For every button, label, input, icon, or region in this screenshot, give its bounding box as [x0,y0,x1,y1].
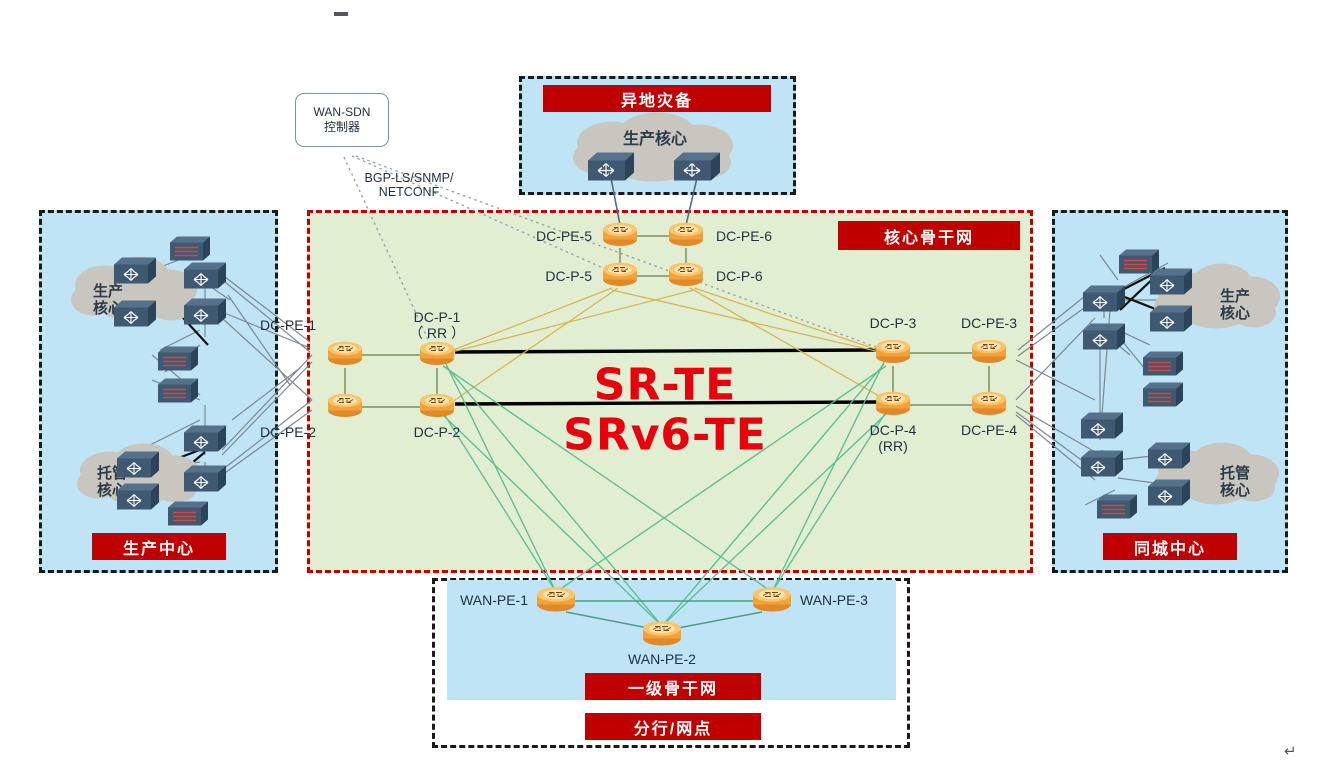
cloud-label-prod-core-top: 生产核心 [623,131,687,149]
banner-branch-outlets: 分行/网点 [585,713,761,740]
router-dc-p-6[interactable] [667,260,705,293]
firewall-icon [166,499,210,532]
srv6-te-label: SRv6-TE [563,410,767,461]
banner-production-center: 生产中心 [92,533,226,560]
label-dc-pe-5: DC-PE-5 [536,229,592,245]
switch-icon [182,463,228,498]
diagram-canvas: 生产 核心 托管 核心 生产核心 生产 核心 托管 核心 [0,0,1338,783]
switch-icon [182,296,228,331]
label-dc-pe-2: DC-PE-2 [260,425,316,441]
label-dc-pe-1: DC-PE-1 [260,318,316,334]
label-wan-pe-3: WAN-PE-3 [800,593,868,609]
switch-icon [1148,266,1194,301]
wan-sdn-controller-box[interactable]: WAN-SDN 控制器 [295,93,389,147]
label-wan-pe-2: WAN-PE-2 [628,652,696,668]
paragraph-mark-icon: ↵ [1284,742,1297,760]
router-dc-pe-1[interactable] [326,339,364,372]
banner-remote-dr: 异地灾备 [543,85,771,112]
router-dc-pe-3[interactable] [970,337,1008,370]
router-dc-p-1[interactable] [418,339,456,372]
label-dc-p-6: DC-P-6 [716,269,763,285]
firewall-icon [156,344,200,377]
firewall-icon [1095,492,1139,525]
switch-icon [1146,477,1192,512]
switch-icon [672,150,722,187]
router-dc-pe-4[interactable] [970,389,1008,422]
banner-core-backbone: 核心骨干网 [838,221,1020,250]
firewall-icon [1141,380,1185,413]
switch-icon [115,449,161,484]
label-dc-pe-3: DC-PE-3 [961,316,1017,332]
router-dc-p-3[interactable] [874,337,912,370]
router-dc-pe-6[interactable] [667,220,705,253]
switch-icon [112,298,158,333]
label-wan-pe-1: WAN-PE-1 [460,593,528,609]
label-dc-p-5: DC-P-5 [545,269,592,285]
router-dc-pe-5[interactable] [601,220,639,253]
banner-same-city-center: 同城中心 [1103,533,1237,560]
router-dc-p-5[interactable] [601,260,639,293]
switch-icon [1081,321,1127,356]
firewall-icon [156,376,200,409]
label-dc-pe-4: DC-PE-4 [961,423,1017,439]
router-dc-p-4[interactable] [874,389,912,422]
router-wan-pe-1[interactable] [535,584,577,619]
switch-icon [1081,283,1127,318]
label-dc-p-1: DC-P-1 （ RR ） [409,310,465,341]
switch-icon [586,150,636,187]
top-artifact-mark [334,12,348,16]
switch-icon [1079,410,1125,445]
router-dc-pe-2[interactable] [326,391,364,424]
firewall-icon [1141,349,1185,382]
switch-icon [182,260,228,295]
router-wan-pe-2[interactable] [641,618,683,653]
sr-te-label: SR-TE [594,360,736,411]
switch-icon [182,423,228,458]
sdn-controller-line1: WAN-SDN [314,105,371,120]
switch-icon [115,481,161,516]
switch-icon [112,255,158,290]
banner-primary-backbone: 一级骨干网 [585,673,761,700]
switch-icon [1146,440,1192,475]
sdn-controller-line2: 控制器 [324,120,360,135]
switch-icon [1079,448,1125,483]
router-wan-pe-3[interactable] [751,584,793,619]
cloud-label-prod-core-right: 生产 核心 [1220,288,1250,323]
cloud-label-host-core-right: 托管 核心 [1220,465,1250,500]
sdn-protocol-label: BGP-LS/SNMP/ NETCONF [365,171,454,199]
label-dc-pe-6: DC-PE-6 [716,229,772,245]
switch-icon [1148,303,1194,338]
router-dc-p-2[interactable] [418,391,456,424]
label-dc-p-4: DC-P-4 (RR) [870,423,917,454]
label-dc-p-2: DC-P-2 [414,425,461,441]
label-dc-p-3: DC-P-3 [870,316,917,332]
